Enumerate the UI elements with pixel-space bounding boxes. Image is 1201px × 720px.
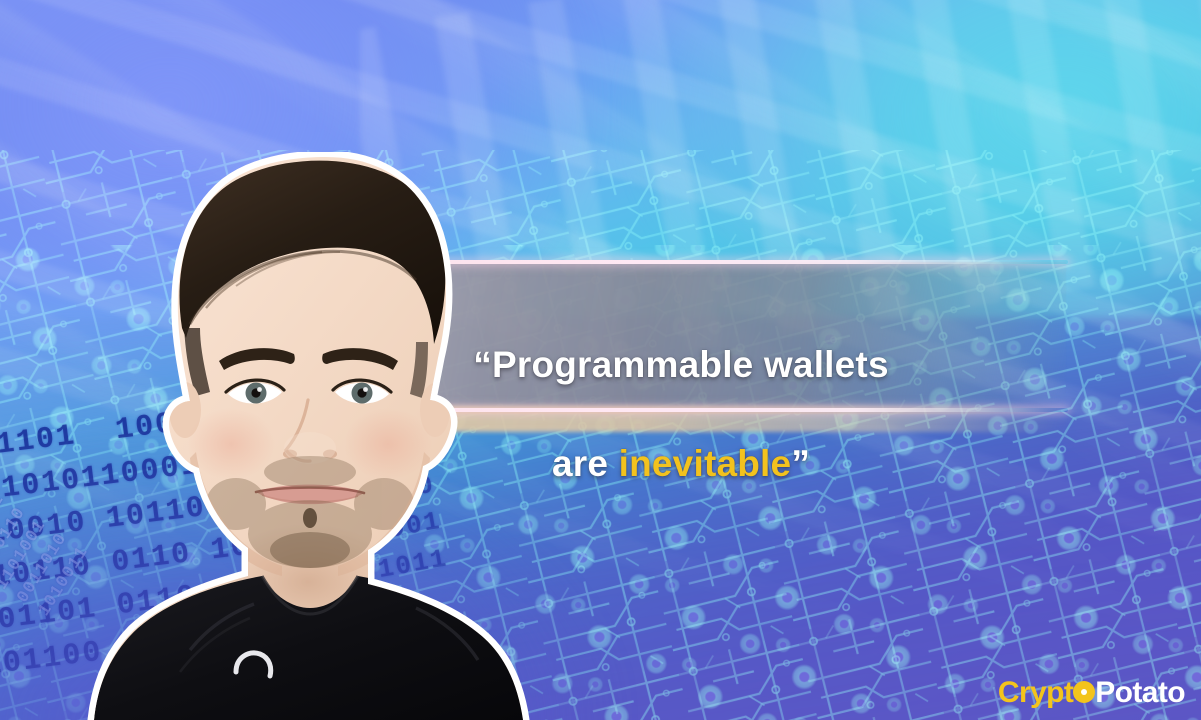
portrait-photo xyxy=(86,152,531,720)
logo-text-potato: Potato xyxy=(1095,678,1185,708)
quote-line-2-suffix: ” xyxy=(791,443,810,484)
quote-highlight-word: inevitable xyxy=(619,443,792,484)
portrait-clip-group xyxy=(86,152,531,720)
hero-banner-image: 0101101 1001011 0 1001010110001101 01100… xyxy=(0,0,1201,720)
logo-dot-o-icon xyxy=(1073,681,1095,703)
logo-text-crypto: Crypt xyxy=(998,678,1073,708)
quote-line-2-prefix: are xyxy=(552,443,619,484)
cryptopotato-logo: Crypt Potato xyxy=(998,678,1185,708)
